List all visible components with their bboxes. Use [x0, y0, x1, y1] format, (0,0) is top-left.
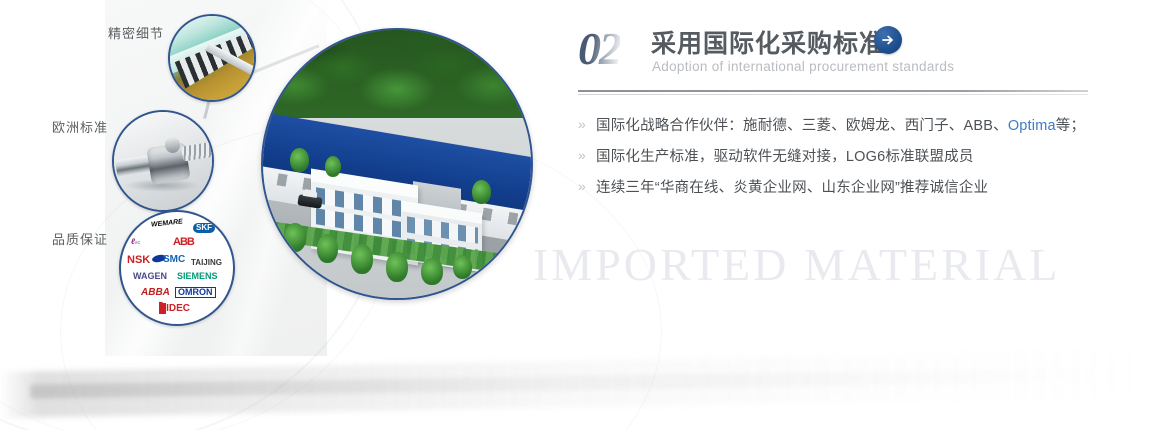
bullet-text-before: 国际化战略合作伙伴：施耐德、三菱、欧姆龙、西门子、ABB、: [596, 118, 1008, 134]
brand-logo-taijing: TAIJING: [191, 259, 222, 267]
bullet-text: 国际化战略合作伙伴：施耐德、三菱、欧姆龙、西门子、ABB、Optima等；: [596, 114, 1085, 135]
feature-label-quality: 品质保证: [52, 229, 108, 248]
bullet-marker-icon: »: [578, 147, 586, 163]
feature-label-precision: 精密细节: [108, 23, 164, 42]
section-content: 02 采用国际化采购标准 Adoption of international p…: [578, 24, 1088, 86]
list-item: » 国际化战略合作伙伴：施耐德、三菱、欧姆龙、西门子、ABB、Optima等；: [578, 114, 1088, 145]
brand-logo-nsk: NSK: [127, 255, 150, 266]
factory-aerial-photo: [261, 28, 533, 300]
brand-logo-extra: ℓᴇᴄ: [131, 238, 140, 246]
brand-logo-wagen: WAGEN: [133, 272, 167, 281]
feature-circle-european-standard: [112, 110, 214, 212]
arrow-right-icon[interactable]: [874, 26, 902, 54]
feature-circle-quality-logos: WEMARE SKF ℓᴇᴄ ABB NSK SMC TAIJING WAGEN…: [119, 210, 235, 326]
bullet-text-after: 等；: [1056, 118, 1085, 134]
bullet-marker-icon: »: [578, 116, 586, 132]
brand-logo-smc: SMC: [163, 255, 185, 265]
bullet-text-before: 连续三年“华商在线、炎黄企业网、山东企业网”推荐诚信企业: [596, 180, 988, 196]
bullet-text: 连续三年“华商在线、炎黄企业网、山东企业网”推荐诚信企业: [596, 176, 988, 197]
list-item: » 连续三年“华商在线、炎黄企业网、山东企业网”推荐诚信企业: [578, 176, 1088, 207]
brand-logo-siemens: SIEMENS: [177, 272, 218, 281]
brand-logo-skf: SKF: [193, 223, 215, 233]
brand-logo-idec: ▌IDEC: [159, 304, 190, 314]
brand-logo-omron: OMRON: [175, 287, 216, 298]
bullet-text-before: 国际化生产标准，驱动软件无缝对接，LOG6标准联盟成员: [596, 149, 974, 165]
feature-label-european-standard: 欧洲标准: [52, 117, 108, 136]
bullet-text: 国际化生产标准，驱动软件无缝对接，LOG6标准联盟成员: [596, 145, 974, 166]
feature-circle-precision: [168, 14, 256, 102]
watermark-text: IMPORTED MATERIAL: [533, 238, 1060, 291]
bullet-marker-icon: »: [578, 178, 586, 194]
section-title-cn: 采用国际化采购标准: [651, 24, 885, 60]
list-item: » 国际化生产标准，驱动软件无缝对接，LOG6标准联盟成员: [578, 145, 1088, 176]
brand-logo-wemare: WEMARE: [151, 218, 183, 228]
section-number: 02: [578, 26, 620, 72]
section-title-en: Adoption of international procurement st…: [652, 59, 954, 74]
brand-logo-abba: ABBA: [141, 288, 170, 298]
section-header: 02 采用国际化采购标准 Adoption of international p…: [578, 24, 1088, 86]
header-divider: [578, 90, 1088, 95]
promo-banner: 精密细节 欧洲标准 品质保证 WEMARE SKF ℓᴇᴄ ABB NSK SM…: [0, 0, 1150, 430]
brand-logo-abb: ABB: [173, 237, 194, 248]
bullet-list: » 国际化战略合作伙伴：施耐德、三菱、欧姆龙、西门子、ABB、Optima等； …: [578, 114, 1088, 207]
bullet-text-highlight: Optima: [1008, 118, 1056, 134]
